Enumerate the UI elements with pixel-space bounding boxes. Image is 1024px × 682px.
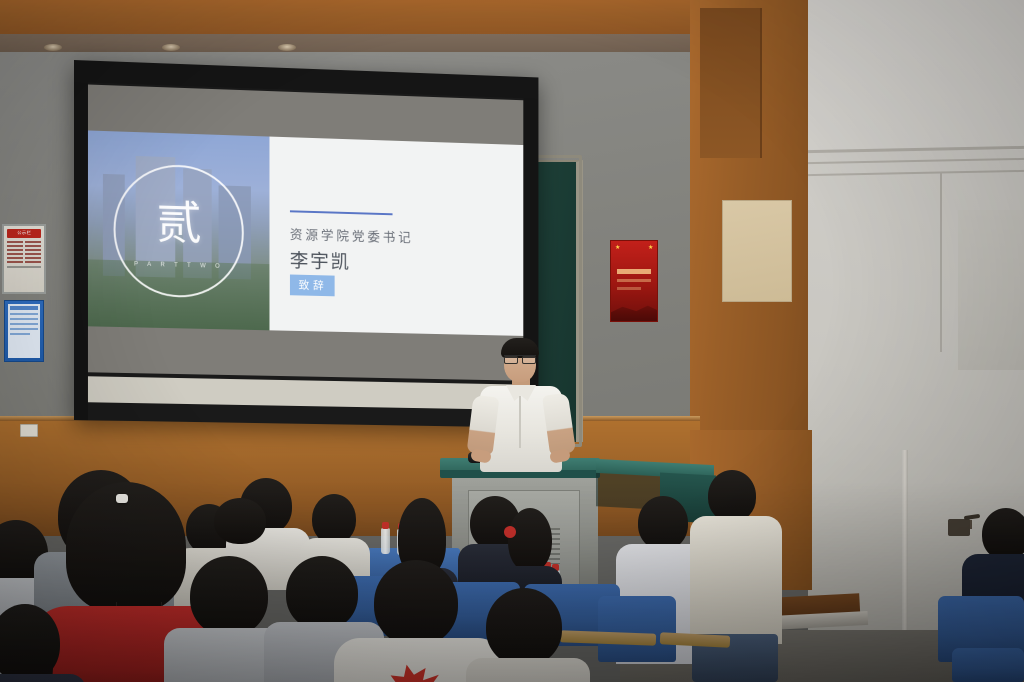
slide-badge: 致辞 [290, 275, 335, 297]
slide-role-title: 资源学院党委书记 [290, 224, 414, 246]
star-icon: ★ [648, 246, 653, 251]
notice-board-column [7, 241, 23, 263]
poster-subtitle-bar [617, 279, 651, 282]
notice-board-rows [7, 241, 41, 263]
red-hair-accessory [504, 526, 516, 538]
eyeglasses-icon [504, 355, 536, 363]
presenter-shirt-placket [519, 396, 521, 448]
star-icon: ★ [615, 246, 620, 251]
notice-board-blue [4, 300, 44, 362]
auditorium-seat[interactable] [598, 596, 676, 662]
screen-edge-left [74, 82, 88, 420]
notice-board-white: 公示栏 [2, 224, 46, 294]
presenter-hand-right [549, 448, 571, 463]
red-propaganda-poster: ★ ★ [610, 240, 658, 322]
wood-pillar-upper-panel [700, 8, 762, 158]
slide-text-panel: 资源学院党委书记 李宇凯 致辞 [269, 137, 523, 336]
notice-board-header: 公示栏 [7, 229, 41, 238]
slide-speaker-name: 李宇凯 [290, 246, 351, 274]
wall-panel-seam [958, 210, 1024, 370]
notice-board-footer [7, 266, 41, 268]
poster-landscape-graphic [611, 299, 657, 321]
downlight-icon [278, 44, 296, 51]
slide-content: 贰 P A R T T W O 资源学院党委书记 李宇凯 致辞 [88, 131, 523, 336]
blank-notice-paper [722, 200, 792, 302]
notice-board-header-text: 公示栏 [17, 231, 31, 235]
wall-mounted-fixture [948, 519, 970, 536]
water-bottle [381, 528, 390, 554]
light-switch[interactable] [20, 424, 38, 437]
notice-board-blue-inner [8, 304, 40, 358]
auditorium-seat[interactable] [952, 648, 1024, 682]
hair-clip [116, 494, 128, 503]
lecture-hall-photo: 公示栏 ★ ★ [0, 0, 1024, 682]
wall-pipe [902, 450, 908, 640]
wall-conduit-vertical [940, 172, 942, 352]
section-number: 贰 [156, 200, 201, 247]
slide-left-photo-panel: 贰 P A R T T W O [88, 131, 269, 331]
poster-subtitle-bar [617, 287, 641, 290]
poster-title-bar [617, 269, 651, 274]
presenter-at-podium [468, 338, 572, 472]
notice-board-column [25, 241, 41, 263]
projected-slide: 贰 P A R T T W O 资源学院党委书记 李宇凯 致辞 [88, 85, 523, 381]
downlight-icon [44, 44, 62, 51]
accent-rule [290, 211, 392, 216]
downlight-icon [162, 44, 180, 51]
